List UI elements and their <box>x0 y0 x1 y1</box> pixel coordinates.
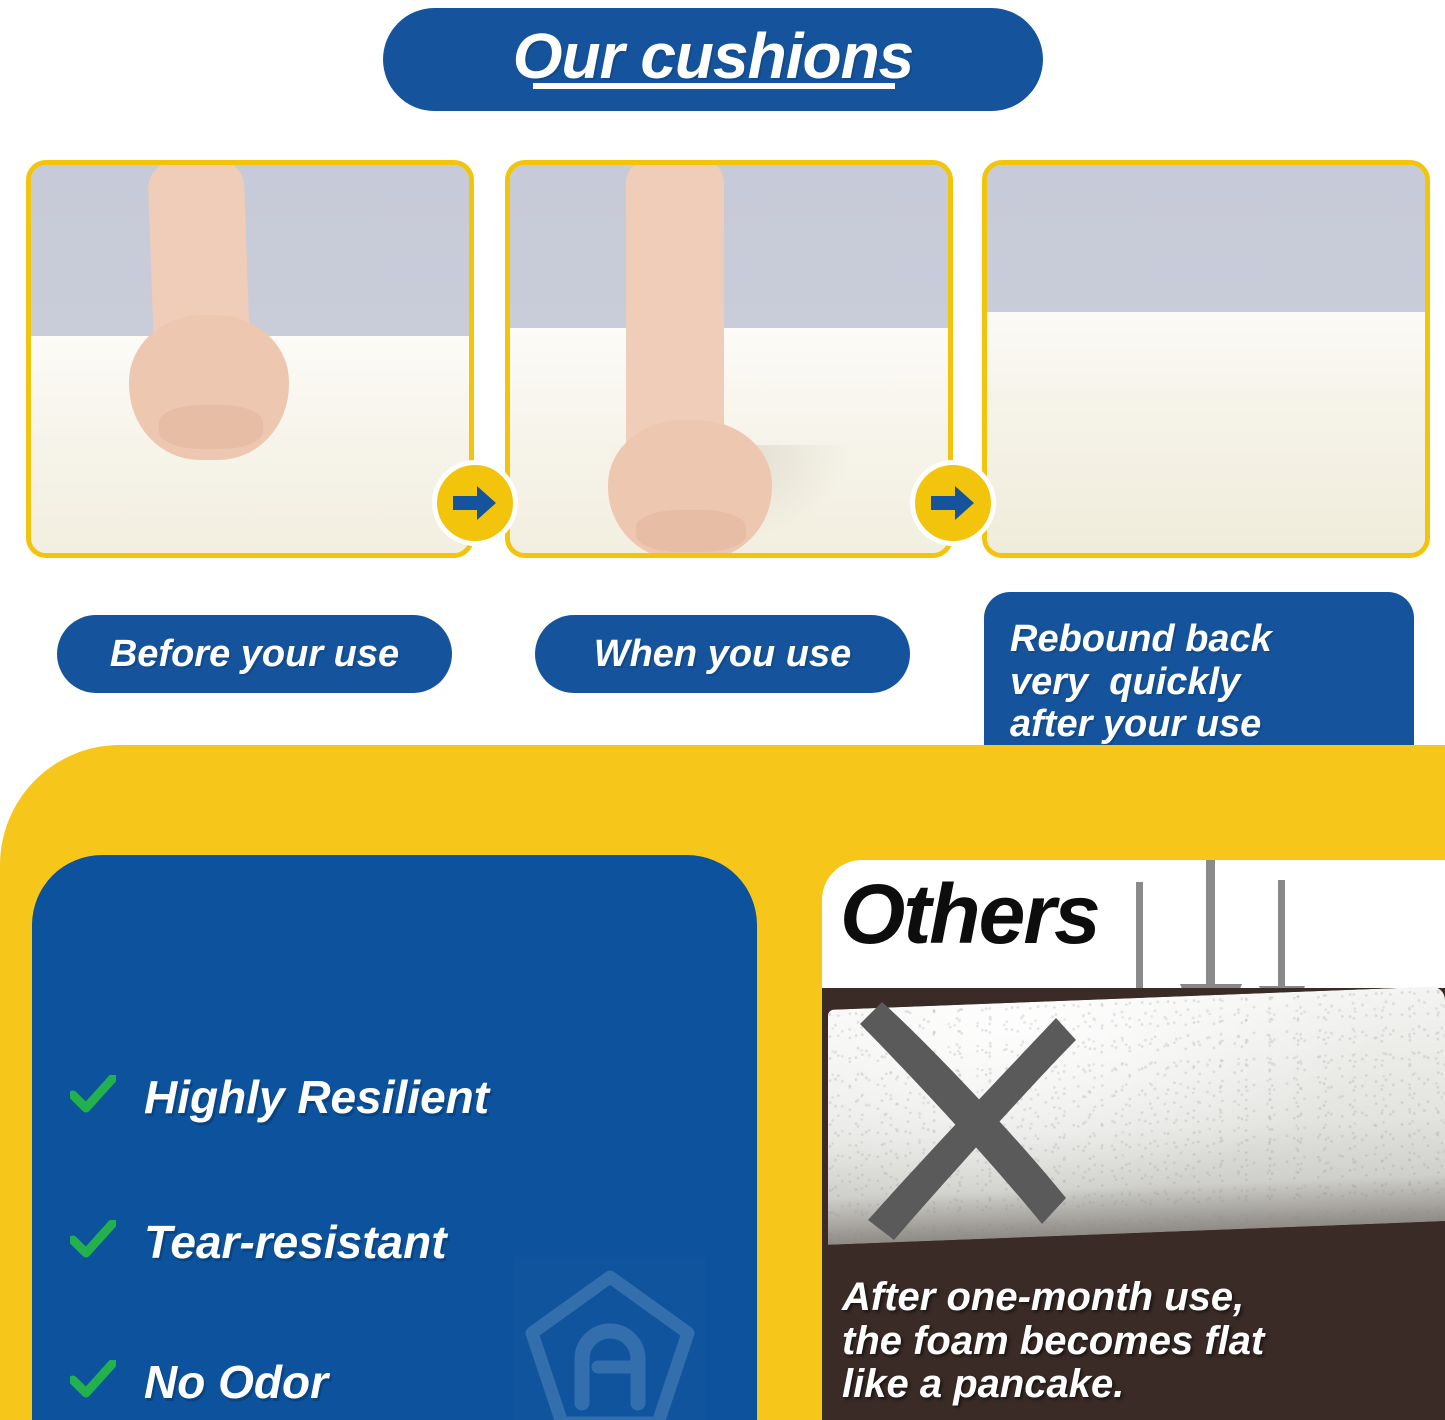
others-caption-line-1: After one-month use, <box>842 1276 1435 1319</box>
page-title-banner: Our cushions <box>383 8 1043 111</box>
caption-rebound-line-2: very quickly <box>1010 661 1240 704</box>
others-caption-line-2: the foam becomes flat <box>842 1320 1435 1363</box>
our-features-card: Highly Resilient Tear-resistant No Odor <box>32 855 757 1420</box>
feature-item-tear-resistant: Tear-resistant <box>144 1215 447 1269</box>
arrow-right-icon <box>451 483 499 523</box>
step-arrow-2 <box>910 460 996 546</box>
step-arrow-1 <box>432 460 518 546</box>
check-icon <box>70 1355 116 1409</box>
others-caption: After one-month use, the foam becomes fl… <box>842 1276 1435 1406</box>
caption-before-use-label: Before your use <box>110 633 399 676</box>
caption-when-use-label: When you use <box>594 633 852 676</box>
demo-photo-after <box>982 160 1430 558</box>
caption-before-use: Before your use <box>57 615 452 693</box>
check-icon <box>70 1215 116 1269</box>
feature-item-no-odor: No Odor <box>144 1355 328 1409</box>
caption-when-use: When you use <box>535 615 910 693</box>
feature-label: Tear-resistant <box>144 1215 447 1269</box>
others-card: Others After one-mont <box>822 860 1445 1420</box>
others-title: Others <box>840 872 1099 956</box>
comparison-section: Highly Resilient Tear-resistant No Odor … <box>0 745 1445 1420</box>
others-caption-line-3: like a pancake. <box>842 1363 1435 1406</box>
feature-label: Highly Resilient <box>144 1070 489 1124</box>
caption-rebound-line-1: Rebound back <box>1010 618 1272 661</box>
degraded-foam-photo: After one-month use, the foam becomes fl… <box>822 988 1445 1420</box>
demo-photo-before <box>26 160 474 558</box>
caption-rebound-line-3: after your use <box>1010 703 1261 746</box>
arrow-right-icon <box>929 483 977 523</box>
page-title: Our cushions <box>513 24 914 88</box>
feature-label: No Odor <box>144 1355 328 1409</box>
knuckle-shade <box>636 510 746 552</box>
check-icon <box>70 1070 116 1124</box>
foam-surface-flat <box>987 312 1425 553</box>
forearm-shape <box>626 160 724 459</box>
x-cross-icon <box>830 988 1090 1248</box>
demo-photo-row <box>0 160 1445 560</box>
title-underline <box>533 83 895 89</box>
feature-item-highly-resilient: Highly Resilient <box>144 1070 489 1124</box>
demo-photo-during <box>505 160 953 558</box>
knuckle-shade <box>159 405 263 449</box>
pentagon-a-logo-icon <box>510 1255 710 1420</box>
